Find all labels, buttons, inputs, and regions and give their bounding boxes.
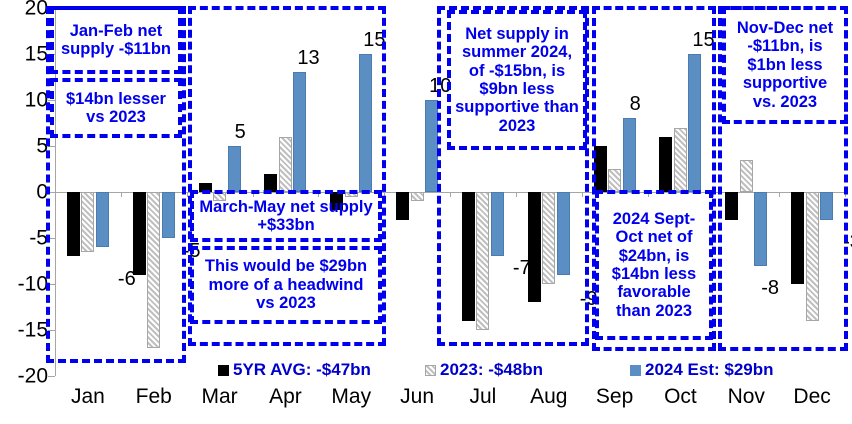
legend-item-avg: 5YR AVG: -$47bn (218, 360, 371, 380)
x-axis-label-apr: Apr (269, 386, 302, 407)
annotation-summer-outer (437, 6, 589, 346)
bar-jun-prev (411, 192, 424, 201)
y-axis-tick-label: -5 (4, 228, 48, 249)
x-axis-label-jun: Jun (400, 386, 434, 407)
y-axis-tick-label: 5 (4, 136, 48, 157)
x-axis-label-oct: Oct (664, 386, 697, 407)
bar-jun-avg (396, 192, 409, 220)
y-axis-tick-label: -10 (4, 274, 48, 295)
x-axis-label-aug: Aug (530, 386, 567, 407)
legend-label: 2024 Est: $29bn (645, 360, 774, 380)
y-axis-tick-label: -15 (4, 320, 48, 341)
x-axis-label-feb: Feb (136, 386, 172, 407)
chart-root: 20151050-5-10-15-20 -6-55131510-7-9815-8… (0, 0, 852, 424)
x-axis-label-dec: Dec (793, 386, 830, 407)
legend-label: 5YR AVG: -$47bn (233, 360, 371, 380)
annotation-sept-oct-outer (592, 6, 716, 351)
annotation-mar-may-outer (188, 6, 386, 346)
legend-swatch-avg-icon (218, 365, 229, 376)
legend-label: 2023: -$48bn (440, 360, 543, 380)
y-axis-tick-mark (48, 376, 55, 377)
y-axis-tick-label: 10 (4, 90, 48, 111)
y-axis-tick-label: 0 (4, 182, 48, 203)
legend: 5YR AVG: -$47bn2023: -$48bn2024 Est: $29… (0, 360, 852, 386)
x-axis-label-mar: Mar (201, 386, 237, 407)
y-axis-tick-label: 20 (4, 0, 48, 19)
legend-swatch-est-icon (630, 365, 641, 376)
x-axis-label-sep: Sep (596, 386, 633, 407)
y-axis-tick-label: 15 (4, 44, 48, 65)
legend-item-est: 2024 Est: $29bn (630, 360, 774, 380)
annotation-jan-feb-outer (46, 6, 186, 363)
x-axis-label-jan: Jan (71, 386, 105, 407)
legend-swatch-prev-icon (425, 365, 436, 376)
x-axis-label-may: May (331, 386, 371, 407)
x-axis-label-nov: Nov (728, 386, 765, 407)
x-axis-label-jul: Jul (469, 386, 496, 407)
annotation-nov-dec-outer (718, 6, 848, 351)
legend-item-prev: 2023: -$48bn (425, 360, 543, 380)
